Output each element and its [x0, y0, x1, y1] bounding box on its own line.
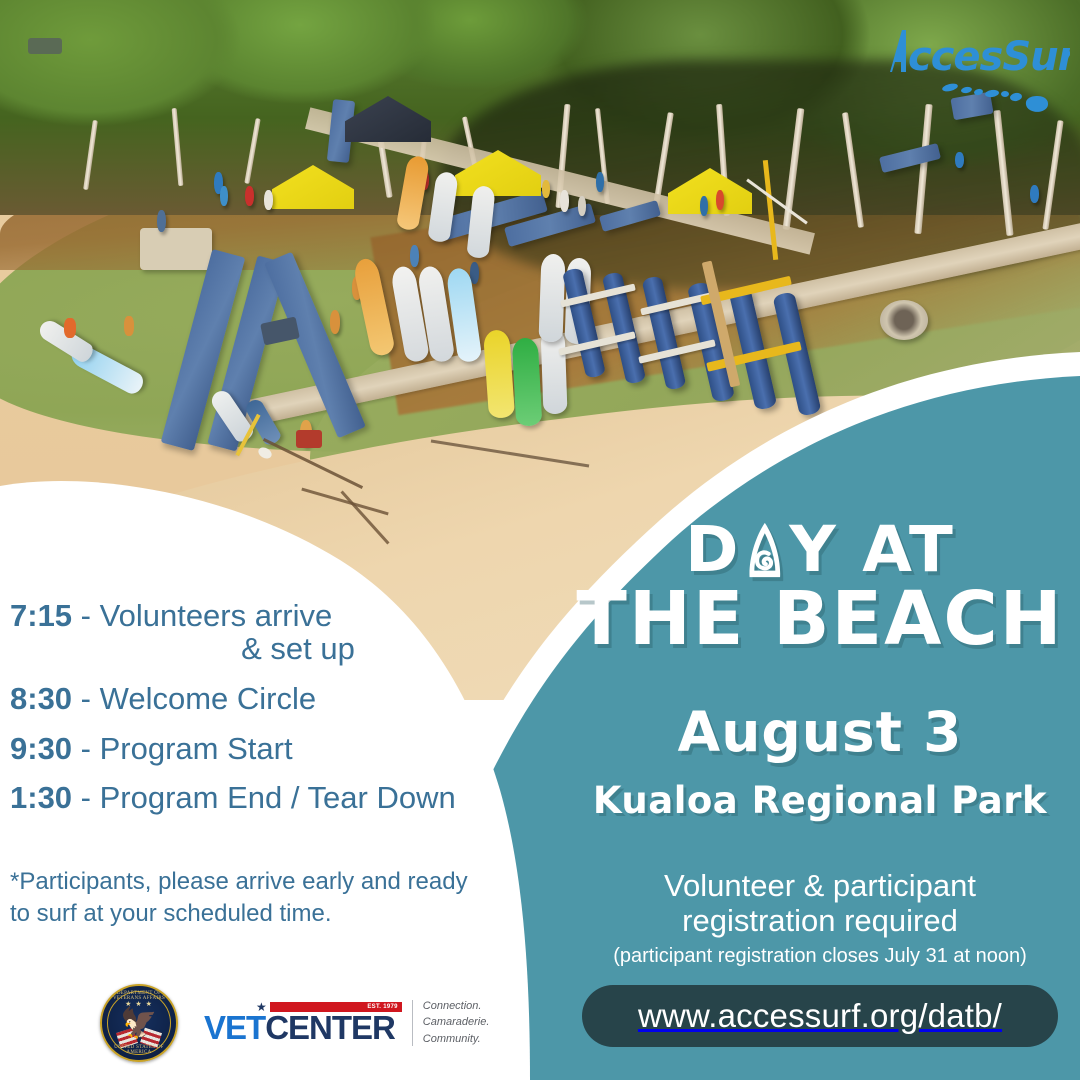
schedule-time: 9:30: [10, 731, 72, 766]
vet-center-logo: ★ EST. 1979 VET CENTER Connection. Camar…: [204, 998, 489, 1048]
title-rest-line-1: Y AT: [789, 520, 955, 580]
schedule-item: 8:30 - Welcome Circle: [0, 683, 540, 716]
schedule-time: 8:30: [10, 681, 72, 716]
schedule-desc: Volunteers arrive: [100, 598, 333, 633]
event-title: D Y AT THE BEACH: [560, 520, 1080, 654]
registration-line-2: registration required: [560, 903, 1080, 938]
va-seal-bottom-text: UNITED STATES OF AMERICA: [102, 1045, 176, 1055]
schedule-desc-second-line: & set up: [241, 631, 355, 666]
schedule-item: 7:15 - Volunteers arrive: [0, 600, 540, 633]
poster-root: ccesSurf 7:15 - Volunteers arrive & set …: [0, 0, 1080, 1080]
title-letter-d: D: [685, 520, 740, 580]
event-location: Kualoa Regional Park: [560, 782, 1080, 819]
schedule-desc: Program End / Tear Down: [100, 780, 456, 815]
schedule-dash: -: [81, 681, 91, 716]
schedule-time: 1:30: [10, 780, 72, 815]
registration-line-1: Volunteer & participant: [560, 868, 1080, 903]
note-line-2: to surf at your scheduled time.: [10, 898, 530, 930]
schedule-dash: -: [81, 780, 91, 815]
event-date-location: August 3 Kualoa Regional Park: [560, 705, 1080, 819]
schedule-desc: Program Start: [100, 731, 293, 766]
schedule-time: 7:15: [10, 598, 72, 633]
schedule-item: 1:30 - Program End / Tear Down: [0, 782, 540, 815]
event-date: August 3: [560, 705, 1080, 760]
event-title-line-2: THE BEACH: [560, 584, 1080, 654]
schedule-dash: -: [81, 731, 91, 766]
event-info-panel: D Y AT THE BEACH August 3 Kualoa Regiona…: [560, 0, 1080, 1080]
registration-info: Volunteer & participant registration req…: [560, 868, 1080, 969]
eagle-icon: 🦅: [120, 1009, 157, 1039]
sponsor-logos: DEPARTMENT OF VETERANS AFFAIRS ★ ★ ★ 🦅 U…: [100, 975, 520, 1070]
schedule-item: 9:30 - Program Start: [0, 733, 540, 766]
va-seal-logo: DEPARTMENT OF VETERANS AFFAIRS ★ ★ ★ 🦅 U…: [100, 984, 178, 1062]
tagline-line-2: Camaraderie.: [423, 1014, 490, 1031]
vet-center-word-center: CENTER: [265, 1011, 395, 1044]
registration-url-text: www.accessurf.org/datb/: [638, 997, 1002, 1035]
schedule-list: 7:15 - Volunteers arrive & set up 8:30 -…: [0, 600, 540, 815]
vet-center-tagline: Connection. Camaraderie. Community.: [423, 998, 490, 1048]
event-title-line-1: D Y AT: [555, 520, 1080, 580]
participant-note: *Participants, please arrive early and r…: [10, 866, 530, 929]
vet-center-divider: [412, 1000, 413, 1046]
schedule-item-continuation: & set up: [0, 633, 540, 666]
registration-url-button[interactable]: www.accessurf.org/datb/: [582, 985, 1058, 1047]
surfboard-a-icon: [746, 522, 785, 580]
registration-deadline-note: (participant registration closes July 31…: [560, 943, 1080, 969]
note-line-1: *Participants, please arrive early and r…: [10, 866, 530, 898]
va-seal-top-text: DEPARTMENT OF VETERANS AFFAIRS: [102, 991, 176, 1001]
tagline-line-1: Connection.: [423, 998, 490, 1015]
schedule-dash: -: [81, 598, 91, 633]
vet-center-word-vet: VET: [204, 1011, 265, 1044]
tagline-line-3: Community.: [423, 1031, 490, 1048]
schedule-desc: Welcome Circle: [100, 681, 316, 716]
